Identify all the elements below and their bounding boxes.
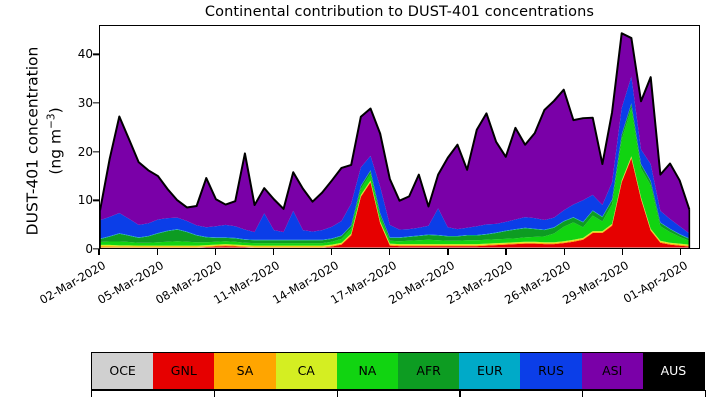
legend-item-ca[interactable]: CA bbox=[276, 353, 337, 389]
x-tick-mark bbox=[273, 249, 274, 255]
y-tick-label: 30 bbox=[63, 96, 93, 110]
stacked-area-plot bbox=[100, 26, 699, 248]
legend-axis bbox=[91, 390, 705, 402]
chart-figure: Continental contribution to DUST-401 con… bbox=[0, 0, 721, 402]
x-tick-mark bbox=[622, 249, 623, 255]
page-title: Continental contribution to DUST-401 con… bbox=[99, 4, 700, 20]
legend-item-rus[interactable]: RUS bbox=[520, 353, 581, 389]
legend-item-na[interactable]: NA bbox=[337, 353, 398, 389]
legend-tick-mark bbox=[337, 390, 338, 397]
legend-item-sa[interactable]: SA bbox=[214, 353, 275, 389]
legend-axis-line bbox=[91, 390, 705, 391]
legend-item-afr[interactable]: AFR bbox=[398, 353, 459, 389]
legend-tick-mark bbox=[91, 390, 92, 397]
y-axis-unit-exponent: −3 bbox=[46, 113, 58, 128]
x-tick-mark bbox=[389, 249, 390, 255]
y-tick-label: 20 bbox=[63, 145, 93, 159]
x-tick-mark bbox=[564, 249, 565, 255]
legend-item-eur[interactable]: EUR bbox=[459, 353, 520, 389]
legend-tick-mark bbox=[459, 390, 460, 397]
y-tick-mark bbox=[93, 102, 99, 103]
legend-colorbar[interactable]: OCEGNLSACANAAFREURRUSASIAUS bbox=[91, 352, 705, 390]
legend-item-oce[interactable]: OCE bbox=[92, 353, 153, 389]
y-tick-label: 40 bbox=[63, 47, 93, 61]
legend-tick-mark bbox=[705, 390, 706, 397]
x-tick-mark bbox=[680, 249, 681, 255]
legend-tick-mark bbox=[214, 390, 215, 397]
plot-area bbox=[99, 25, 700, 249]
y-tick-mark bbox=[93, 248, 99, 249]
y-tick-mark bbox=[93, 151, 99, 152]
y-axis-label-line1: DUST-401 concentration bbox=[24, 19, 43, 264]
y-tick-mark bbox=[93, 200, 99, 201]
y-tick-mark bbox=[93, 54, 99, 55]
legend-item-gnl[interactable]: GNL bbox=[153, 353, 214, 389]
x-tick-mark bbox=[98, 249, 99, 255]
x-tick-mark bbox=[447, 249, 448, 255]
y-axis-label: DUST-401 concentration (ng m−3) bbox=[24, 19, 46, 264]
area-series-asi bbox=[100, 33, 689, 233]
legend-item-asi[interactable]: ASI bbox=[582, 353, 643, 389]
legend-tick-mark bbox=[582, 390, 583, 397]
x-tick-mark bbox=[215, 249, 216, 255]
x-tick-mark bbox=[331, 249, 332, 255]
y-tick-label: 10 bbox=[63, 193, 93, 207]
x-tick-mark bbox=[505, 249, 506, 255]
x-tick-mark bbox=[157, 249, 158, 255]
y-tick-label: 0 bbox=[63, 242, 93, 256]
y-axis-ticks: 010203040 bbox=[60, 0, 93, 402]
legend-item-aus[interactable]: AUS bbox=[643, 353, 704, 389]
